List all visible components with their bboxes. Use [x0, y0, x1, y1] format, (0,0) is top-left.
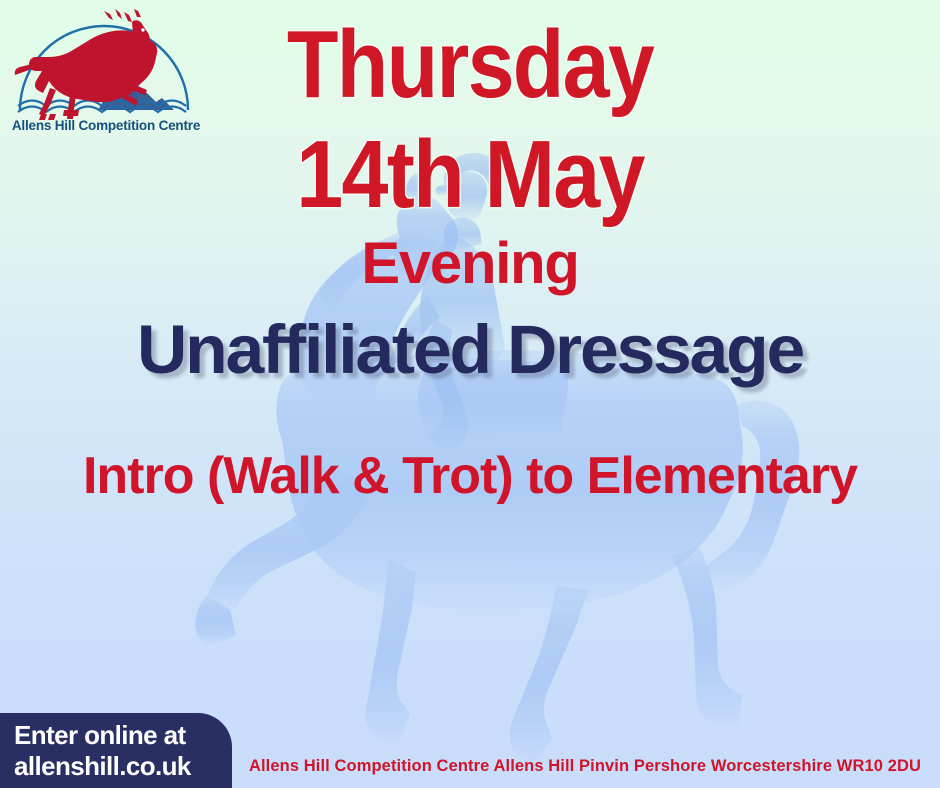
venue-address: Allens Hill Competition Centre Allens Hi…	[240, 757, 930, 776]
enter-online-website[interactable]: allenshill.co.uk	[14, 751, 232, 782]
event-date-line-1: Thursday	[56, 17, 883, 113]
enter-online-panel[interactable]: Enter online at allenshill.co.uk	[0, 713, 232, 788]
event-date-line-2: 14th May	[56, 127, 883, 223]
event-headline: Unaffiliated Dressage	[0, 315, 940, 384]
event-subheadline: Intro (Walk & Trot) to Elementary	[0, 450, 940, 502]
enter-online-label: Enter online at	[14, 720, 232, 751]
event-poster: Allens Hill Competition Centre Thursday …	[0, 0, 940, 788]
event-time-of-day: Evening	[0, 235, 940, 293]
